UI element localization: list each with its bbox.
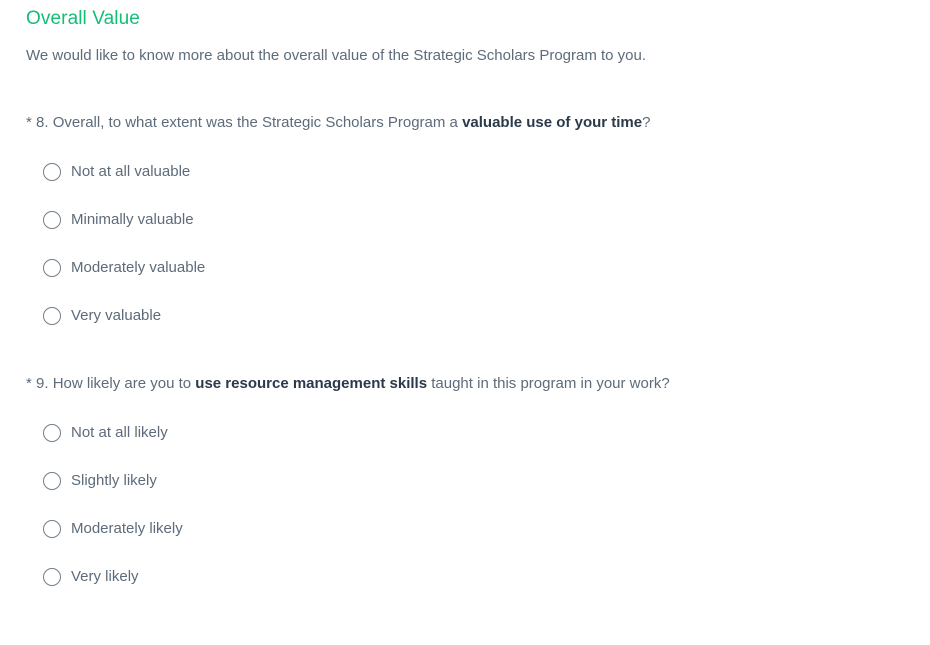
- radio-circle-icon[interactable]: [43, 259, 61, 277]
- required-asterisk-9: *: [26, 375, 32, 392]
- page-title: Overall Value: [26, 0, 904, 31]
- question-text-9: * 9. How likely are you to use resource …: [26, 373, 904, 395]
- radio-option-label: Minimally valuable: [61, 210, 194, 230]
- radio-option-label: Moderately likely: [61, 519, 183, 539]
- radio-option-very-likely[interactable]: Very likely: [26, 567, 904, 587]
- radio-circle-icon[interactable]: [43, 472, 61, 490]
- radio-option-label: Not at all valuable: [61, 162, 190, 182]
- question-emphasis-9: use resource management skills: [195, 375, 427, 392]
- radio-circle-icon[interactable]: [43, 424, 61, 442]
- section-description: We would like to know more about the ove…: [26, 31, 904, 67]
- question-text-after-8: ?: [642, 114, 650, 131]
- radio-group-8: Not at all valuable Minimally valuable M…: [26, 134, 904, 326]
- radio-option-moderately-likely[interactable]: Moderately likely: [26, 519, 904, 539]
- question-block-8: * 8. Overall, to what extent was the Str…: [26, 112, 904, 326]
- radio-option-label: Very likely: [61, 567, 139, 587]
- question-text-8: * 8. Overall, to what extent was the Str…: [26, 112, 904, 134]
- radio-circle-icon[interactable]: [43, 211, 61, 229]
- question-text-before-9: How likely are you to: [53, 375, 191, 392]
- radio-option-slightly-likely[interactable]: Slightly likely: [26, 471, 904, 491]
- survey-page: Overall Value We would like to know more…: [0, 0, 930, 645]
- question-number-9: 9.: [36, 375, 49, 392]
- question-text-before-8: Overall, to what extent was the Strategi…: [53, 114, 458, 131]
- question-block-9: * 9. How likely are you to use resource …: [26, 373, 904, 587]
- question-emphasis-8: valuable use of your time: [462, 114, 642, 131]
- radio-option-label: Slightly likely: [61, 471, 157, 491]
- question-text-after-9: taught in this program in your work?: [431, 375, 669, 392]
- radio-option-very-valuable[interactable]: Very valuable: [26, 306, 904, 326]
- radio-circle-icon[interactable]: [43, 520, 61, 538]
- radio-circle-icon[interactable]: [43, 163, 61, 181]
- question-number-8: 8.: [36, 114, 49, 131]
- required-asterisk-8: *: [26, 114, 32, 131]
- radio-option-label: Very valuable: [61, 306, 161, 326]
- radio-circle-icon[interactable]: [43, 307, 61, 325]
- radio-option-not-at-all-likely[interactable]: Not at all likely: [26, 423, 904, 443]
- radio-option-moderately-valuable[interactable]: Moderately valuable: [26, 258, 904, 278]
- radio-circle-icon[interactable]: [43, 568, 61, 586]
- radio-option-label: Not at all likely: [61, 423, 168, 443]
- radio-option-minimally-valuable[interactable]: Minimally valuable: [26, 210, 904, 230]
- radio-option-label: Moderately valuable: [61, 258, 205, 278]
- radio-option-not-at-all-valuable[interactable]: Not at all valuable: [26, 162, 904, 182]
- radio-group-9: Not at all likely Slightly likely Modera…: [26, 395, 904, 587]
